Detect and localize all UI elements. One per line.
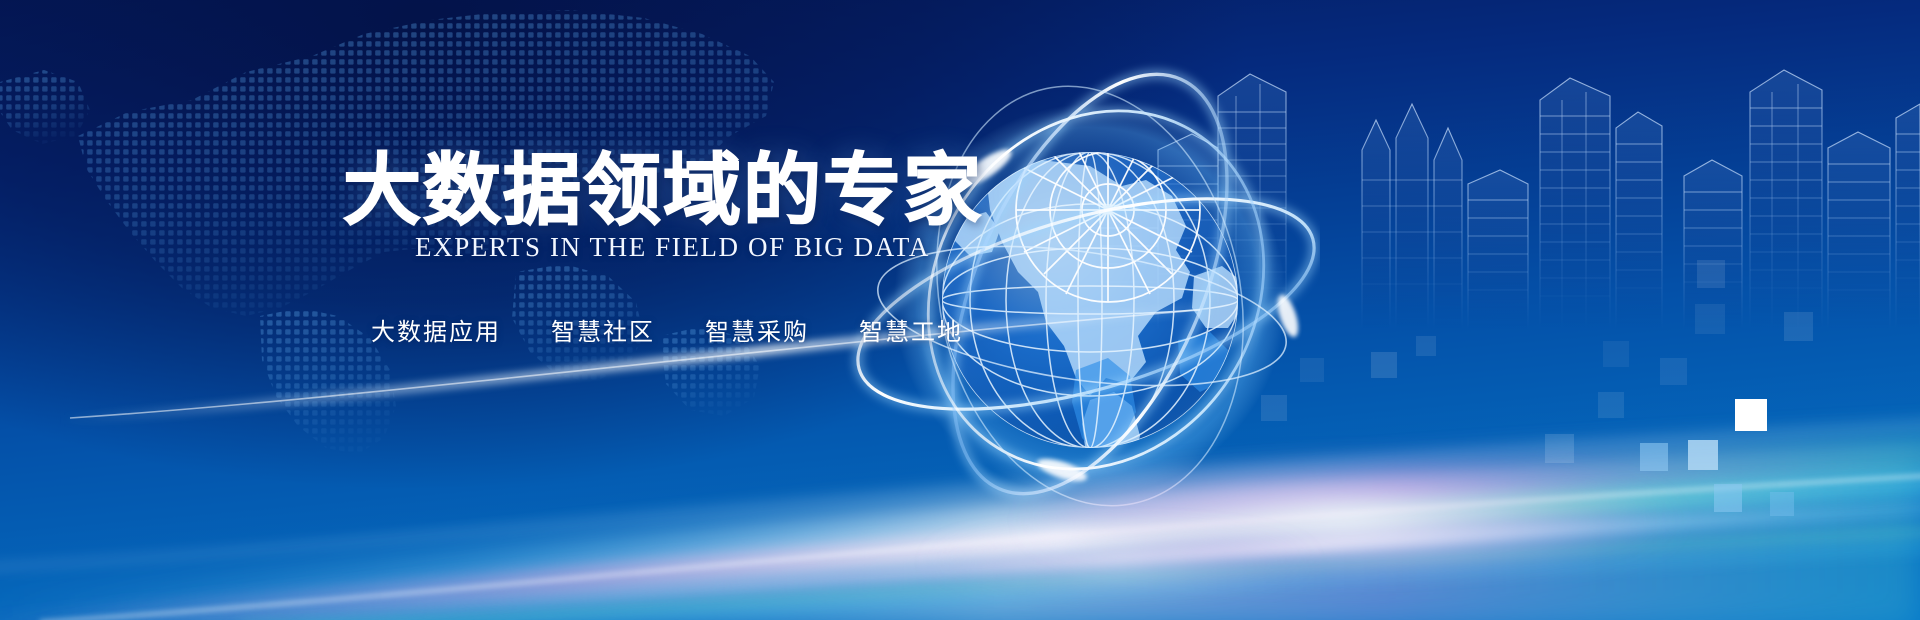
mosaic-square [1714, 484, 1742, 512]
keyword-item-big-data-application[interactable]: 大数据应用 [371, 312, 501, 347]
mosaic-square [1416, 336, 1436, 356]
mosaic-square [1545, 434, 1574, 463]
mosaic-square [1640, 443, 1668, 471]
keyword-item-smart-procurement[interactable]: 智慧采购 [705, 312, 809, 347]
banner-content: 大数据领域的专家 EXPERTS IN THE FIELD OF BIG DAT… [0, 0, 920, 620]
mosaic-square [1688, 440, 1718, 470]
big-data-hero-banner: 大数据领域的专家 EXPERTS IN THE FIELD OF BIG DAT… [0, 0, 1920, 620]
page-title: 大数据领域的专家 [343, 148, 983, 232]
mosaic-square [1598, 392, 1624, 418]
mosaic-square [1603, 341, 1629, 367]
mosaic-square [1770, 492, 1794, 516]
keyword-item-smart-construction-site[interactable]: 智慧工地 [859, 312, 963, 347]
mosaic-square [1660, 358, 1687, 385]
keyword-item-smart-community[interactable]: 智慧社区 [551, 312, 655, 347]
mosaic-square [1371, 352, 1397, 378]
keyword-nav: 大数据应用 智慧社区 智慧采购 智慧工地 [371, 312, 963, 347]
banner-subtitle: EXPERTS IN THE FIELD OF BIG DATA [415, 232, 930, 263]
mosaic-square [1735, 399, 1767, 431]
